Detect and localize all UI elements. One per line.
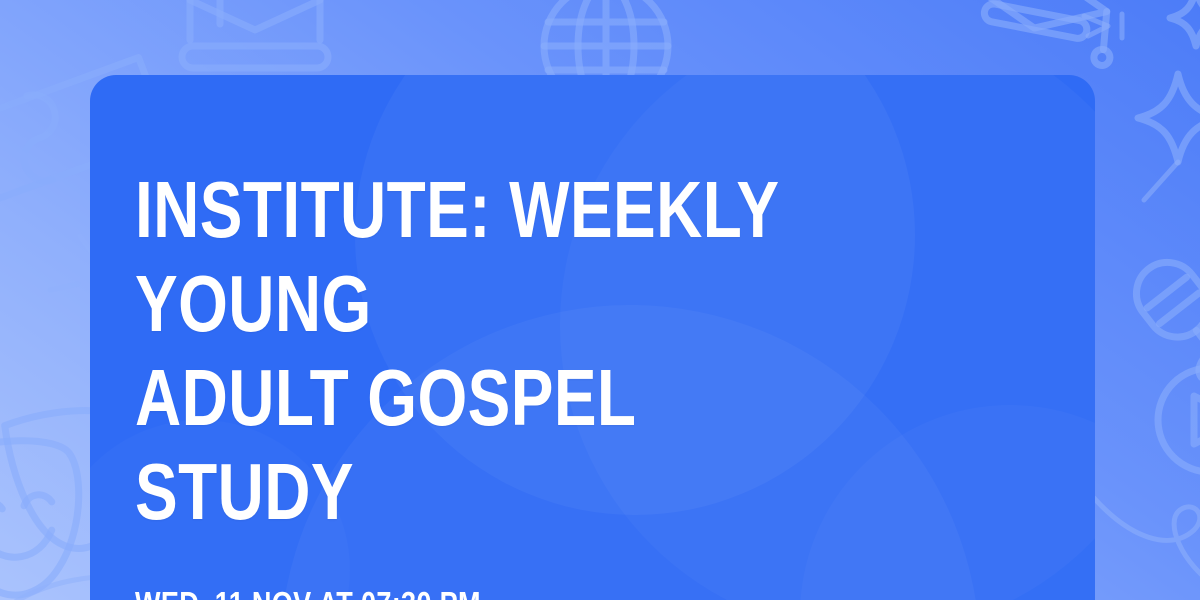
event-datetime: Wed, 11 Nov at 07:30 PM xyxy=(135,585,857,600)
event-banner: Institute: Weekly Young Adult Gospel Stu… xyxy=(0,0,1200,600)
dash-marks-icon xyxy=(1078,4,1148,54)
event-card[interactable]: Institute: Weekly Young Adult Gospel Stu… xyxy=(90,75,1095,600)
dash-marks-icon xyxy=(1130,140,1200,220)
sparkle-icon xyxy=(1150,0,1200,62)
card-content: Institute: Weekly Young Adult Gospel Stu… xyxy=(135,75,1015,600)
event-title: Institute: Weekly Young Adult Gospel Stu… xyxy=(135,163,839,539)
swirl-line-icon xyxy=(1090,460,1200,600)
